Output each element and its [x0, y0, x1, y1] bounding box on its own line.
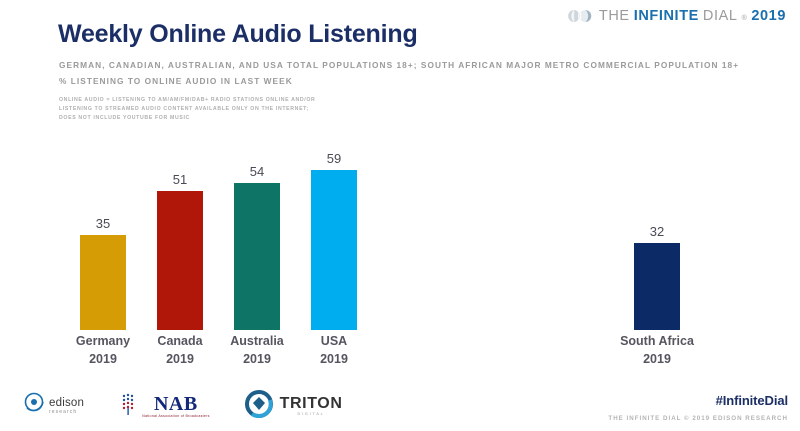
bar-group: 32	[634, 150, 680, 330]
brand-year: 2019	[751, 8, 786, 24]
edison-wordmark: edison research	[49, 398, 84, 416]
edison-research-logo[interactable]: edison research	[24, 392, 84, 421]
category-name: USA	[321, 334, 347, 348]
bar-value-label: 59	[327, 151, 341, 166]
chart-footnote: ONLINE AUDIO = LISTENING TO AM/AM/FM/DAB…	[59, 96, 315, 123]
brand-infinite: INFINITE	[634, 8, 699, 24]
hashtag-label: #InfiniteDial	[608, 393, 788, 408]
nab-wordmark: NAB National Association of Broadcasters	[142, 394, 210, 419]
brand-wordmark: THE INFINITE DIAL® 2019	[599, 8, 786, 24]
edison-name: edison	[49, 398, 84, 410]
triton-subtitle: DIGITAL	[280, 413, 343, 417]
category-year: 2019	[643, 352, 671, 366]
bar-value-label: 35	[96, 216, 110, 231]
brand-the: THE	[599, 8, 630, 24]
bar-value-label: 51	[173, 172, 187, 187]
category-label: USA2019	[320, 332, 348, 368]
chart-footnote-text: ONLINE AUDIO = LISTENING TO AM/AM/FM/DAB…	[59, 97, 315, 121]
bar-group: 54	[234, 150, 280, 330]
category-label: Germany2019	[76, 332, 130, 368]
category-year: 2019	[320, 352, 348, 366]
brand-dial: DIAL	[703, 8, 738, 24]
edison-swirl-icon	[24, 392, 46, 421]
nab-subtitle: National Association of Broadcasters	[142, 415, 210, 419]
category-label: South Africa2019	[620, 332, 694, 368]
triton-wordmark: TRITON DIGITAL	[280, 396, 343, 417]
bar-group: 51	[157, 150, 203, 330]
bar[interactable]	[80, 235, 126, 330]
chart-subtitle-metric: % LISTENING TO ONLINE AUDIO IN LAST WEEK	[59, 76, 293, 86]
bar[interactable]	[311, 170, 357, 330]
bar-value-label: 54	[250, 164, 264, 179]
nab-flag-icon	[118, 391, 140, 422]
copyright-label: THE INFINITE DIAL © 2019 EDISON RESEARCH	[608, 415, 788, 422]
infinity-icon	[567, 8, 593, 24]
triton-swirl-icon	[244, 390, 274, 423]
edison-subtitle: research	[49, 410, 84, 415]
bar[interactable]	[157, 191, 203, 330]
category-year: 2019	[243, 352, 271, 366]
infinite-dial-brand-logo: THE INFINITE DIAL® 2019	[567, 8, 786, 24]
nab-logo[interactable]: NAB National Association of Broadcasters	[118, 391, 210, 422]
triton-name: TRITON	[280, 396, 343, 412]
category-name: Germany	[76, 334, 130, 348]
bar-group: 59	[311, 150, 357, 330]
category-name: Australia	[230, 334, 284, 348]
nab-name: NAB	[142, 394, 210, 414]
category-label: Canada2019	[157, 332, 202, 368]
footer-right: #InfiniteDial THE INFINITE DIAL © 2019 E…	[608, 393, 788, 422]
category-year: 2019	[166, 352, 194, 366]
category-name: Canada	[157, 334, 202, 348]
brand-registered-mark: ®	[742, 15, 748, 22]
partner-logos: edison research NAB	[24, 390, 342, 423]
category-label: Australia2019	[230, 332, 284, 368]
bar-value-label: 32	[650, 224, 664, 239]
triton-logo[interactable]: TRITON DIGITAL	[244, 390, 343, 423]
slide-root: THE INFINITE DIAL® 2019 Weekly Online Au…	[0, 0, 800, 431]
category-year: 2019	[89, 352, 117, 366]
bar-group: 35	[80, 150, 126, 330]
bar-chart: 3551545932	[0, 150, 800, 330]
bar[interactable]	[634, 243, 680, 330]
page-title: Weekly Online Audio Listening	[58, 20, 418, 49]
chart-subtitle-population: GERMAN, CANADIAN, AUSTRALIAN, AND USA TO…	[59, 60, 739, 70]
bar[interactable]	[234, 183, 280, 330]
category-name: South Africa	[620, 334, 694, 348]
